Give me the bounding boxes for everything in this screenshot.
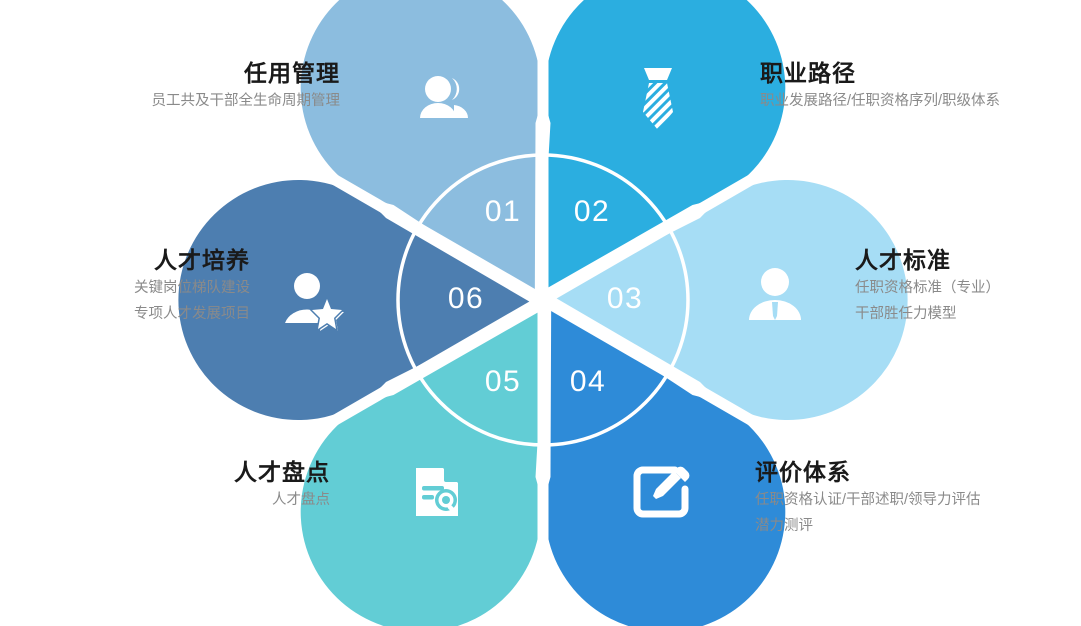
label-subtitle-01-line1: 员工共及干部全生命周期管理: [20, 88, 340, 114]
infographic-canvas: 01 02 03 04 05 06: [0, 0, 1081, 626]
label-block-05: 人才盘点 人才盘点: [80, 457, 330, 513]
label-title-04: 评价体系: [755, 457, 1075, 487]
petal-number-03: 03: [607, 282, 643, 315]
label-title-06: 人才培养: [20, 245, 250, 275]
label-subtitle-04-line2: 潜力测评: [755, 513, 1075, 539]
label-title-02: 职业路径: [760, 58, 1070, 88]
label-title-03: 人才标准: [855, 245, 1075, 275]
label-title-05: 人才盘点: [80, 457, 330, 487]
label-block-03: 人才标准 任职资格标准（专业） 干部胜任力模型: [855, 245, 1075, 327]
label-subtitle-06-line1: 关键岗位梯队建设: [20, 275, 250, 301]
label-subtitle-05-line1: 人才盘点: [80, 487, 330, 513]
petal-number-04: 04: [570, 365, 606, 398]
petal-number-02: 02: [574, 195, 610, 228]
label-block-04: 评价体系 任职资格认证/干部述职/领导力评估 潜力测评: [755, 457, 1075, 539]
label-subtitle-03-line2: 干部胜任力模型: [855, 301, 1075, 327]
petal-number-01: 01: [485, 195, 521, 228]
label-block-02: 职业路径 职业发展路径/任职资格序列/职级体系: [760, 58, 1070, 114]
label-block-01: 任用管理 员工共及干部全生命周期管理: [20, 58, 340, 114]
label-title-01: 任用管理: [20, 58, 340, 88]
petal-number-05: 05: [485, 365, 521, 398]
label-subtitle-04-line1: 任职资格认证/干部述职/领导力评估: [755, 487, 1075, 513]
label-subtitle-03-line1: 任职资格标准（专业）: [855, 275, 1075, 301]
label-block-06: 人才培养 关键岗位梯队建设 专项人才发展项目: [20, 245, 250, 327]
label-subtitle-02-line1: 职业发展路径/任职资格序列/职级体系: [760, 88, 1070, 114]
label-subtitle-06-line2: 专项人才发展项目: [20, 301, 250, 327]
petal-number-06: 06: [448, 282, 484, 315]
